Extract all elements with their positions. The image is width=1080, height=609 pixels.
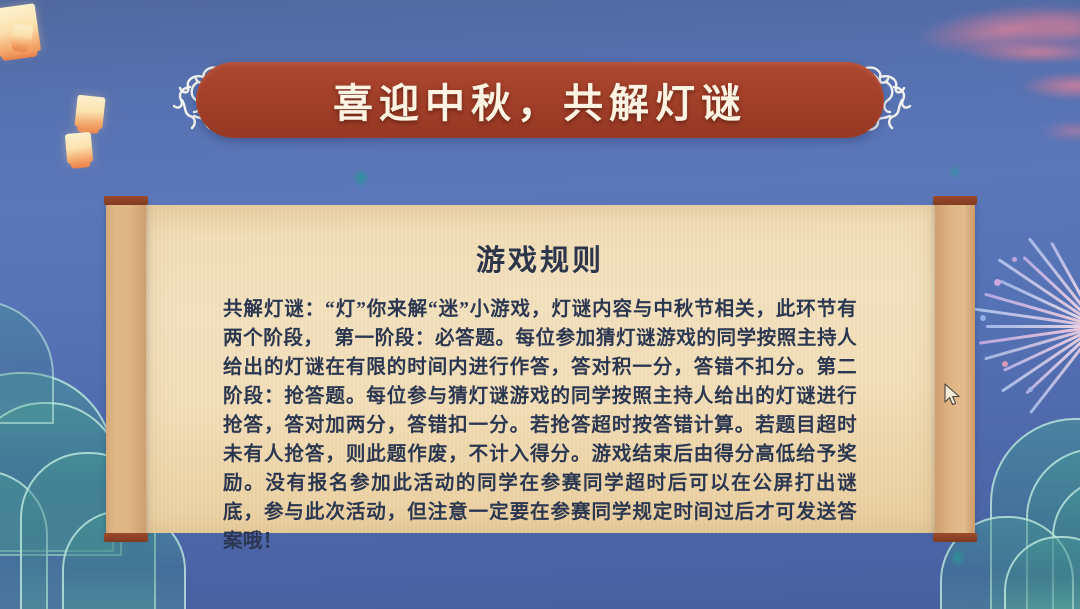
teal-speck bbox=[950, 548, 966, 568]
scroll-rod-cap bbox=[933, 533, 977, 542]
scroll-rod-cap bbox=[933, 196, 977, 205]
teal-mountain-wave bbox=[1052, 478, 1080, 609]
title-banner: 喜迎中秋，共解灯谜 bbox=[196, 62, 884, 138]
sky-lantern bbox=[10, 23, 34, 48]
pink-cloud-swirl bbox=[914, 0, 1080, 62]
scroll-paper: 游戏规则 共解灯谜：“灯”你来解“迷”小游戏，灯谜内容与中秋节相关，此环节有两个… bbox=[145, 205, 935, 533]
sky-lantern bbox=[0, 3, 41, 57]
scroll-content: 游戏规则 共解灯谜：“灯”你来解“迷”小游戏，灯谜内容与中秋节相关，此环节有两个… bbox=[223, 237, 857, 513]
rules-body-text: 共解灯谜：“灯”你来解“迷”小游戏，灯谜内容与中秋节相关，此环节有两个阶段， 第… bbox=[223, 295, 857, 556]
teal-mountain-wave bbox=[0, 300, 54, 424]
teal-speck bbox=[352, 168, 370, 188]
scroll-rod-cap bbox=[104, 533, 148, 542]
teal-mountain-wave bbox=[0, 372, 114, 552]
teal-mountain-wave bbox=[1026, 448, 1080, 609]
pink-cloud-swirl bbox=[1040, 120, 1080, 142]
page-title: 喜迎中秋，共解灯谜 bbox=[333, 71, 747, 129]
scroll-rod-cap bbox=[104, 196, 148, 205]
teal-mountain-wave bbox=[0, 470, 48, 609]
sky-lantern bbox=[65, 132, 94, 164]
rules-heading: 游戏规则 bbox=[223, 237, 857, 279]
sky-lantern bbox=[74, 95, 105, 130]
scroll-rod-right bbox=[935, 201, 975, 537]
pink-cloud-swirl bbox=[962, 40, 1080, 64]
pink-cloud-swirl bbox=[1020, 72, 1080, 100]
teal-mountain-wave bbox=[1004, 536, 1080, 609]
rules-scroll: 游戏规则 共解灯谜：“灯”你来解“迷”小游戏，灯谜内容与中秋节相关，此环节有两个… bbox=[106, 205, 975, 533]
slide-canvas: 喜迎中秋，共解灯谜 游戏规则 共解灯谜：“灯”你来解“迷”小游戏，灯谜内容与中秋… bbox=[0, 0, 1080, 609]
teal-mountain-wave bbox=[990, 418, 1080, 609]
scroll-rod-left bbox=[106, 201, 146, 537]
pink-cloud-swirl bbox=[1012, 8, 1080, 48]
teal-speck bbox=[948, 164, 962, 180]
